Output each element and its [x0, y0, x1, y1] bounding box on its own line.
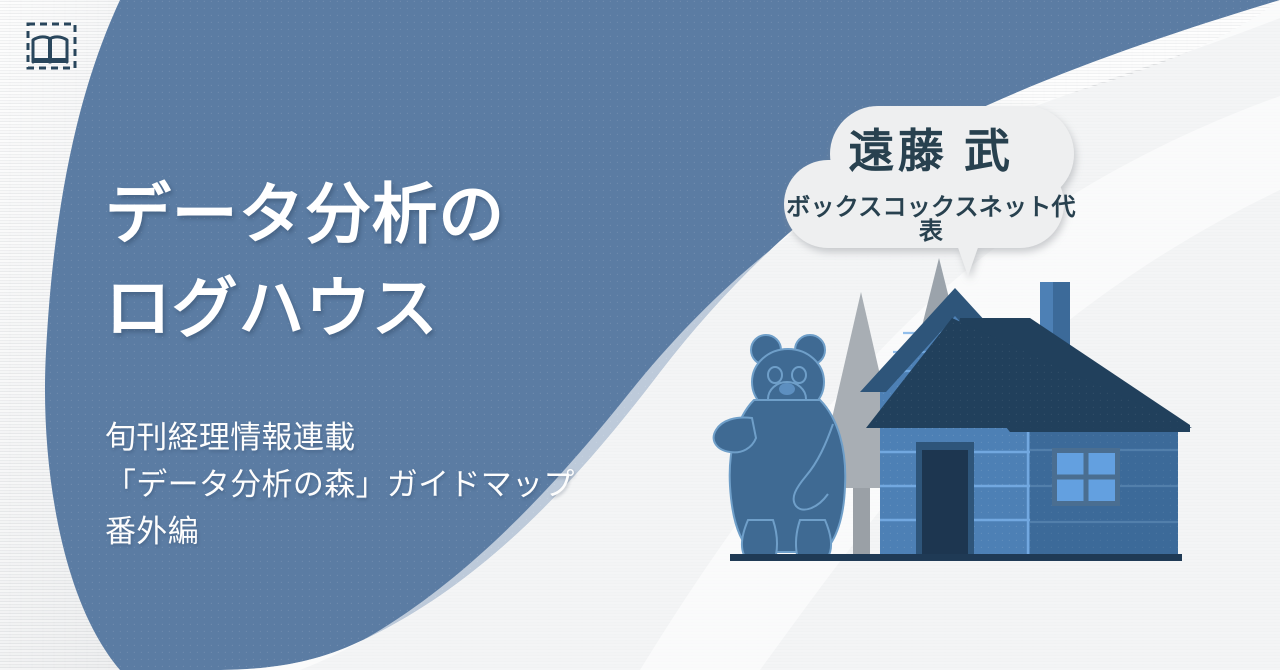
house-door: [916, 442, 974, 558]
open-book-icon[interactable]: [22, 20, 82, 76]
speaker-role: ボックスコックスネット代表: [781, 196, 1081, 244]
book-glyph: [33, 37, 67, 63]
speaker-badge: 遠藤 武 ボックスコックスネット代表: [786, 104, 1076, 274]
house-window: [1052, 448, 1120, 506]
page-title: データ分析の ログハウス: [105, 168, 505, 355]
ground-line: [730, 554, 1182, 561]
hero-banner: データ分析の ログハウス 旬刊経理情報連載 「データ分析の森」ガイドマップ 番外…: [0, 0, 1280, 670]
page-subtitle: 旬刊経理情報連載 「データ分析の森」ガイドマップ 番外編: [105, 414, 575, 555]
speaker-name: 遠藤 武: [786, 128, 1076, 174]
